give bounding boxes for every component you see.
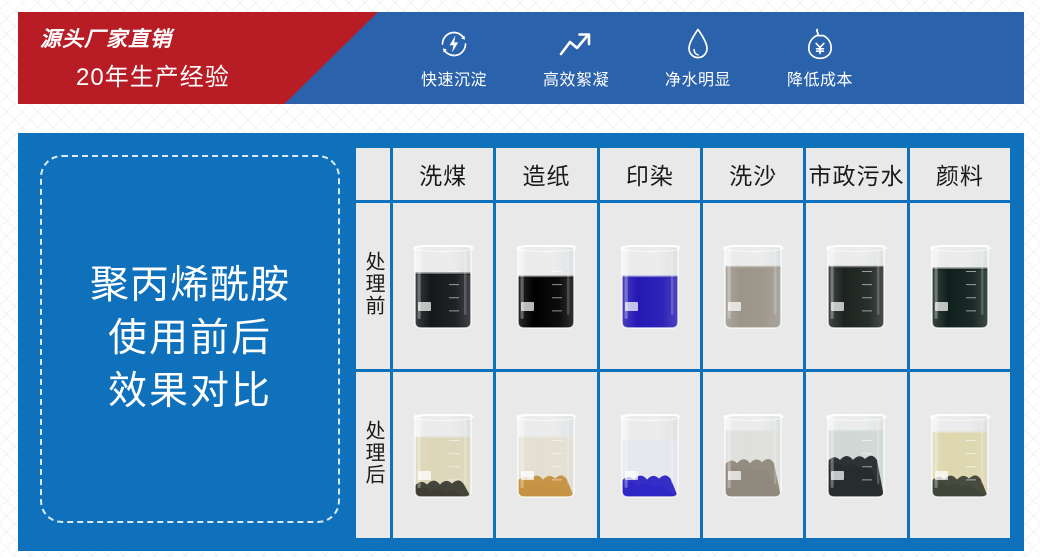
beaker-cell — [806, 203, 906, 369]
beaker-cell — [393, 372, 493, 538]
beaker-cell — [496, 372, 596, 538]
row-label-before: 处理前 — [356, 203, 390, 369]
feature-high-efficiency: 高效絮凝 — [515, 12, 637, 104]
red-ribbon: 源头厂家直销 20年生产经验 — [18, 12, 378, 104]
beaker-after-pigment — [924, 409, 996, 501]
column-header-coal: 洗煤 — [393, 148, 493, 200]
promo-page: 源头厂家直销 20年生产经验 快速沉淀 — [0, 0, 1040, 557]
column-header-label: 印染 — [626, 163, 674, 189]
beaker-after-sand — [717, 409, 789, 501]
column-header-pigment: 颜料 — [910, 148, 1010, 200]
table-row-after: 处理后 — [356, 372, 1010, 538]
beaker-after-sewage — [820, 409, 892, 501]
beaker-cell — [806, 372, 906, 538]
table-corner-cell — [356, 148, 390, 200]
fast-settling-icon — [437, 27, 471, 61]
beaker-before-coal — [407, 240, 479, 332]
ribbon-headline: 源头厂家直销 — [40, 23, 172, 53]
comparison-table: 洗煤 造纸 印染 洗沙 市政污水 颜料 — [353, 145, 1013, 541]
column-header-label: 市政污水 — [808, 163, 904, 189]
caption-box: 聚丙烯酰胺 使用前后 效果对比 — [40, 155, 340, 523]
header-banner: 源头厂家直销 20年生产经验 快速沉淀 — [18, 12, 1024, 104]
column-header-label: 造纸 — [522, 163, 570, 189]
feature-clear-water: 净水明显 — [637, 12, 759, 104]
beaker-cell — [703, 372, 803, 538]
feature-label: 高效絮凝 — [543, 66, 609, 90]
beaker-cell — [600, 372, 700, 538]
money-bag-icon — [806, 27, 834, 61]
feature-label: 快速沉淀 — [421, 66, 487, 90]
trending-up-icon — [558, 27, 594, 61]
comparison-table-wrapper: 洗煤 造纸 印染 洗沙 市政污水 颜料 — [353, 145, 1013, 533]
beaker-after-coal — [407, 409, 479, 501]
feature-lower-cost: 降低成本 — [759, 12, 881, 104]
column-header-sewage: 市政污水 — [806, 148, 906, 200]
beaker-before-sand — [717, 240, 789, 332]
beaker-cell — [600, 203, 700, 369]
beaker-before-sewage — [820, 240, 892, 332]
water-drop-icon — [685, 27, 711, 61]
beaker-after-paper — [510, 409, 582, 501]
column-header-label: 洗沙 — [729, 163, 777, 189]
beaker-before-dyeing — [614, 240, 686, 332]
beaker-cell — [496, 203, 596, 369]
caption-line-1: 聚丙烯酰胺 — [90, 263, 290, 309]
beaker-cell — [910, 372, 1010, 538]
main-panel: 聚丙烯酰胺 使用前后 效果对比 洗煤 造纸 — [18, 133, 1024, 545]
column-header-sand: 洗沙 — [703, 148, 803, 200]
beaker-before-paper — [510, 240, 582, 332]
column-header-label: 洗煤 — [419, 163, 467, 189]
bottom-accent-strip — [18, 545, 1024, 551]
column-header-dyeing: 印染 — [600, 148, 700, 200]
beaker-cell — [393, 203, 493, 369]
row-label-text: 处理后 — [363, 420, 383, 486]
feature-fast-settling: 快速沉淀 — [393, 12, 515, 104]
beaker-cell — [703, 203, 803, 369]
caption-line-2: 使用前后 — [108, 316, 272, 362]
beaker-cell — [910, 203, 1010, 369]
feature-label: 降低成本 — [787, 66, 853, 90]
row-label-text: 处理前 — [363, 251, 383, 317]
table-row-before: 处理前 — [356, 203, 1010, 369]
table-header-row: 洗煤 造纸 印染 洗沙 市政污水 颜料 — [356, 148, 1010, 200]
column-header-label: 颜料 — [936, 163, 984, 189]
column-header-paper: 造纸 — [496, 148, 596, 200]
feature-label: 净水明显 — [665, 66, 731, 90]
beaker-before-pigment — [924, 240, 996, 332]
feature-list: 快速沉淀 高效絮凝 净水明显 — [393, 12, 1024, 104]
caption-line-3: 效果对比 — [108, 369, 272, 415]
beaker-after-dyeing — [614, 409, 686, 501]
ribbon-subline: 20年生产经验 — [76, 57, 230, 92]
row-label-after: 处理后 — [356, 372, 390, 538]
